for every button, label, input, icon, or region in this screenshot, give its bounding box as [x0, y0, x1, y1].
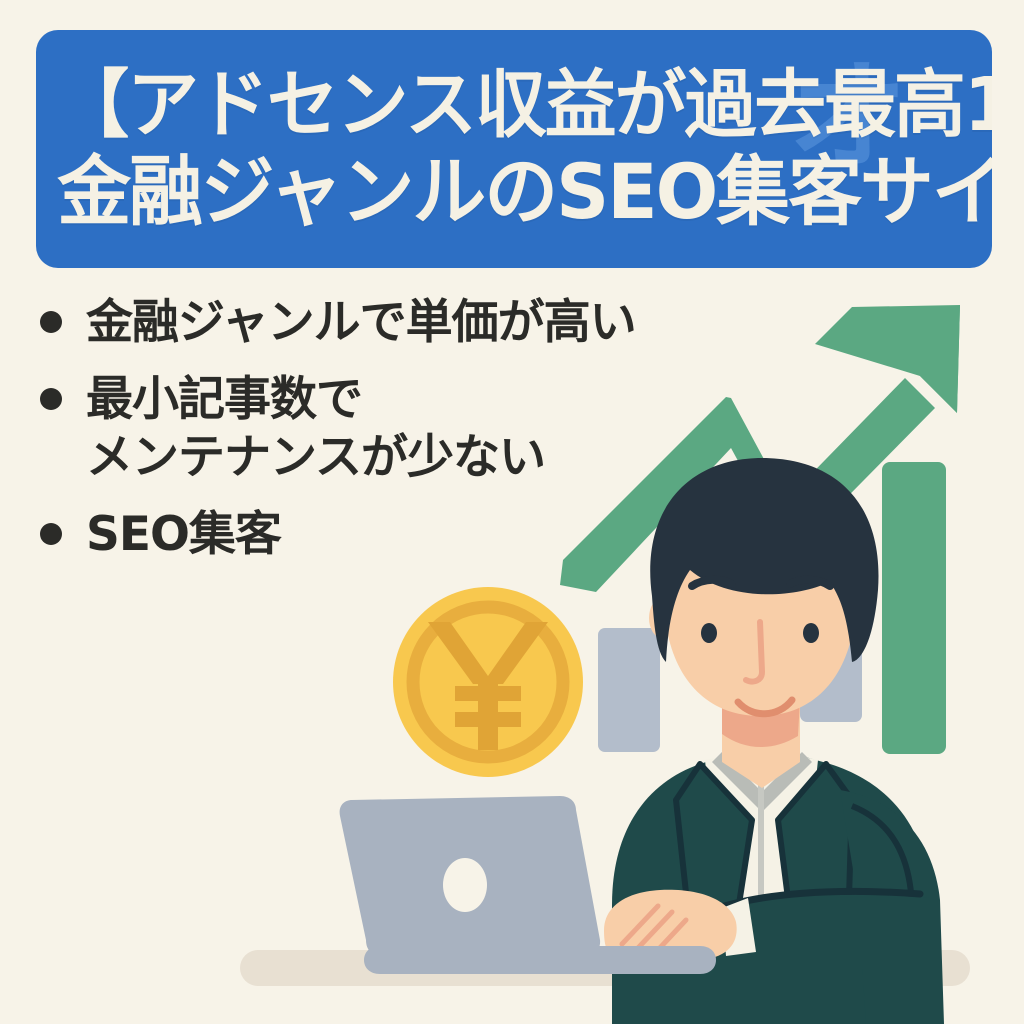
laptop-base	[364, 946, 716, 974]
laptop-logo-icon	[443, 858, 487, 912]
bullet-label: SEO集客	[86, 506, 281, 563]
list-item: SEO集客	[40, 506, 720, 563]
bar-right-green	[882, 462, 946, 754]
bullet-dot-icon	[40, 388, 62, 410]
bullet-dot-icon	[40, 311, 62, 333]
list-item: 金融ジャンルで単価が高い	[40, 294, 720, 351]
bullet-label: 金融ジャンルで単価が高い	[86, 294, 636, 351]
eye-left	[701, 623, 717, 643]
bar-left-gray	[598, 628, 660, 752]
eye-right	[803, 623, 819, 643]
list-item: 最小記事数で メンテナンスが少ない	[40, 371, 720, 486]
poster-canvas: オ 【アドセンス収益が過去最高10」 金融ジャンルのSEO集客サイ 金融ジャンル…	[0, 0, 1024, 1024]
bullet-list: 金融ジャンルで単価が高い 最小記事数で メンテナンスが少ない SEO集客	[40, 294, 720, 583]
bullet-label: 最小記事数で メンテナンスが少ない	[86, 371, 545, 486]
bullet-dot-icon	[40, 523, 62, 545]
yen-coin-icon	[393, 587, 583, 777]
